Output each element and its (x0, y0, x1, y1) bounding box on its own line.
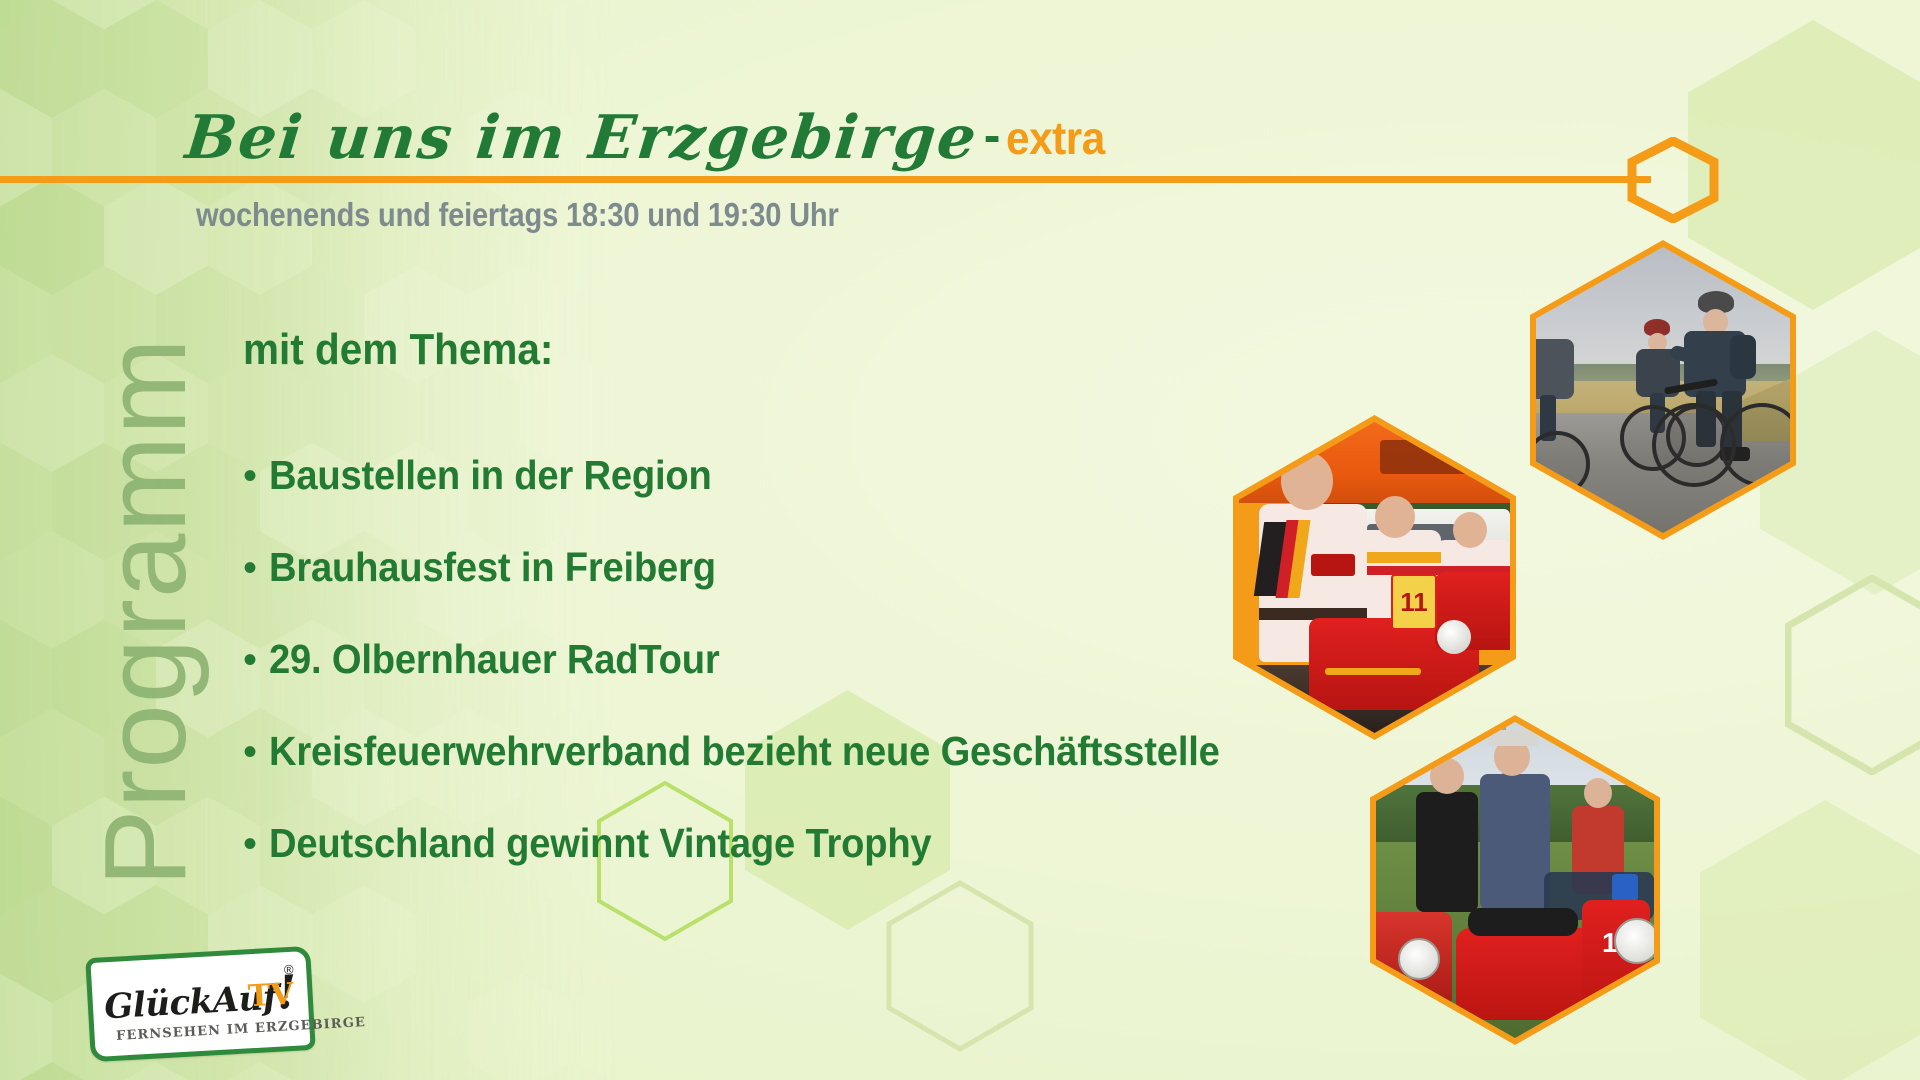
list-item: • Kreisfeuerwehrverband bezieht neue Ges… (243, 728, 1291, 820)
wheel-rear (1720, 403, 1790, 487)
logo-tv-text: TV (247, 977, 294, 1014)
header-rule-hexagon-icon (1627, 137, 1719, 223)
title-dash: - (978, 110, 1007, 160)
photo-hexagon-motocross-team: 11 (1233, 415, 1516, 740)
bullet-dot-icon: • (243, 732, 269, 772)
cyclist-front (1668, 291, 1790, 487)
team-badge (1311, 554, 1355, 576)
scooter-headlight (1614, 918, 1654, 964)
decorative-hexagon-outline-top-right (1760, 590, 1920, 795)
jersey-stripe-yellow (1357, 552, 1441, 563)
vertical-programm-label: Programm (78, 282, 212, 942)
race-number-plate: 11 (1391, 574, 1437, 630)
scene-red-fire-brigade-scooter: 112 (1376, 722, 1654, 1038)
backpack (1730, 335, 1756, 379)
photo-clip: 112 (1376, 722, 1654, 1038)
head (1375, 496, 1415, 538)
wheel (1536, 431, 1590, 497)
bullet-dot-icon: • (243, 824, 269, 864)
bullet-dot-icon: • (243, 548, 269, 588)
cyclist-left (1536, 339, 1608, 489)
glueckauf-tv-logo[interactable]: GlückAuf! ® TV FERNSEHEN IM ERZGEBIRGE (88, 952, 313, 1056)
logo-word-glueck: Glück (103, 981, 214, 1027)
photo-clip: 11 (1239, 422, 1510, 733)
list-item-label: Deutschland gewinnt Vintage Trophy (269, 820, 931, 867)
list-item: • Baustellen in der Region (243, 452, 1291, 544)
program-slide: Bei uns im Erzgebirge-extra wochenends u… (0, 0, 1920, 1080)
bullet-dot-icon: • (243, 640, 269, 680)
registered-trademark-icon: ® (284, 962, 294, 978)
list-item: • Brauhausfest in Freiberg (243, 544, 1291, 636)
topic-intro-label: mit dem Thema: (243, 325, 553, 375)
header-divider-rule (0, 176, 1651, 183)
photo-hexagon-fire-scooter: 112 (1370, 715, 1660, 1045)
title-extra-text: extra (1006, 115, 1105, 161)
page-title: Bei uns im Erzgebirge-extra (186, 108, 1114, 168)
blue-light (1612, 874, 1638, 900)
left-moped-headlight (1398, 938, 1440, 980)
list-item: • Deutschland gewinnt Vintage Trophy (243, 820, 1291, 912)
list-item-label: 29. Olbernhauer RadTour (269, 636, 720, 683)
torso (1536, 339, 1574, 399)
man-black-shirt (1416, 792, 1478, 912)
photo-clip (1536, 247, 1790, 533)
scene-motocross-team-red-bikes: 11 (1239, 422, 1510, 733)
bullet-dot-icon: • (243, 456, 269, 496)
list-item: • 29. Olbernhauer RadTour (243, 636, 1291, 728)
list-item-label: Brauhausfest in Freiberg (269, 544, 716, 591)
headlight (1437, 620, 1471, 654)
head (1584, 778, 1612, 808)
scene-cyclists-on-gravel-road (1536, 247, 1790, 533)
man-checked-shirt (1480, 774, 1550, 910)
tank-stripe (1325, 668, 1421, 675)
topic-list: • Baustellen in der Region • Brauhausfes… (243, 452, 1291, 912)
list-item-label: Baustellen in der Region (269, 452, 712, 499)
broadcast-times-subtitle: wochenends und feiertags 18:30 und 19:30… (196, 196, 839, 234)
list-item-label: Kreisfeuerwehrverband bezieht neue Gesch… (269, 728, 1220, 775)
photo-hexagon-cyclists (1530, 240, 1796, 540)
title-main-text: Bei uns im Erzgebirge (183, 108, 981, 168)
scooter-seat (1468, 908, 1578, 936)
orange-tent (1239, 422, 1510, 503)
head (1453, 512, 1487, 548)
